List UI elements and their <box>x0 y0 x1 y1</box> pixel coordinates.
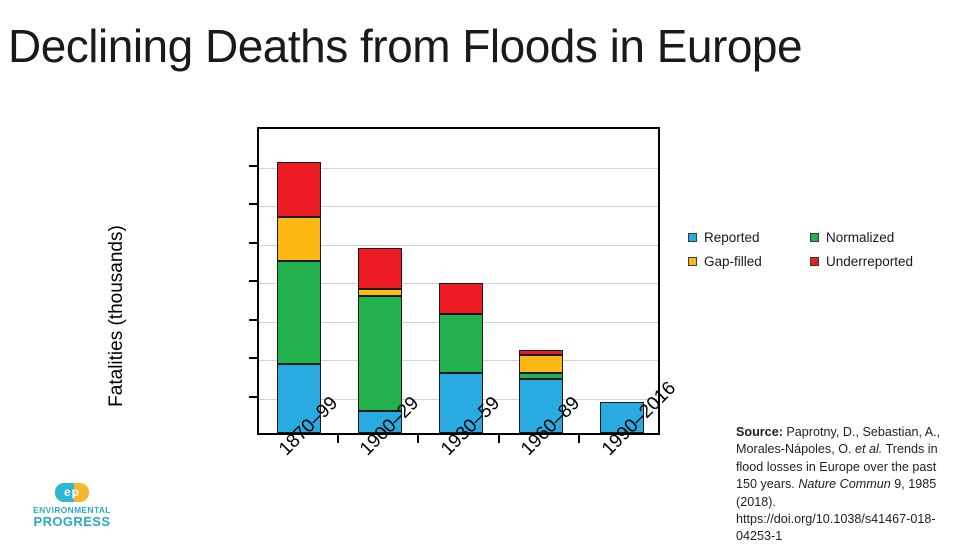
y-tick-mark <box>249 319 257 321</box>
chart-figure: Fatalities (thousands) 03691215182124187… <box>0 100 690 520</box>
bar-segment-normalized[interactable] <box>358 296 402 412</box>
legend-swatch-icon <box>810 257 819 266</box>
y-tick-mark <box>249 203 257 205</box>
x-tick-mark <box>578 435 580 443</box>
legend-swatch-icon <box>688 233 697 242</box>
legend-swatch-icon <box>810 233 819 242</box>
bar-segment-gap-filled[interactable] <box>277 217 321 261</box>
y-tick-mark <box>249 396 257 398</box>
legend-label: Normalized <box>826 230 894 245</box>
logo-line-2: PROGRESS <box>24 515 120 529</box>
legend-item-normalized[interactable]: Normalized <box>810 230 950 245</box>
bar-segment-underreported[interactable] <box>277 162 321 217</box>
legend-item-gap-filled[interactable]: Gap-filled <box>688 254 810 269</box>
x-tick-mark <box>417 435 419 443</box>
bar-segment-gap-filled[interactable] <box>358 289 402 295</box>
bar-segment-underreported[interactable] <box>358 248 402 289</box>
bar-column[interactable] <box>519 125 563 433</box>
bar-column[interactable] <box>439 125 483 433</box>
legend-label: Gap-filled <box>704 254 762 269</box>
bar-column[interactable] <box>277 125 321 433</box>
source-citation: Source: Paprotny, D., Sebastian, A., Mor… <box>736 424 951 546</box>
bar-series-group <box>259 129 658 433</box>
bar-segment-gap-filled[interactable] <box>519 355 563 373</box>
page-title: Declining Deaths from Floods in Europe <box>8 16 952 76</box>
bar-segment-underreported[interactable] <box>519 350 563 355</box>
source-italic-1: et al. <box>855 442 882 456</box>
plot-area <box>257 127 660 435</box>
bar-segment-normalized[interactable] <box>519 373 563 379</box>
legend-item-reported[interactable]: Reported <box>688 230 810 245</box>
bar-segment-normalized[interactable] <box>277 261 321 364</box>
ep-monogram-icon: ep <box>55 483 89 502</box>
bar-segment-normalized[interactable] <box>439 314 483 373</box>
ep-monogram-text: ep <box>55 483 89 502</box>
environmental-progress-logo: ep ENVIRONMENTAL PROGRESS <box>24 483 120 529</box>
y-tick-mark <box>249 242 257 244</box>
source-italic-2: Nature Commun <box>798 477 890 491</box>
legend-swatch-icon <box>688 257 697 266</box>
bar-column[interactable] <box>600 125 644 433</box>
chart-legend: ReportedNormalizedGap-filledUnderreporte… <box>688 225 950 273</box>
legend-label: Underreported <box>826 254 913 269</box>
bar-segment-underreported[interactable] <box>439 283 483 314</box>
legend-item-underreported[interactable]: Underreported <box>810 254 950 269</box>
y-tick-mark <box>249 280 257 282</box>
y-tick-mark <box>249 357 257 359</box>
x-tick-mark <box>498 435 500 443</box>
source-label: Source: <box>736 425 783 439</box>
bar-column[interactable] <box>358 125 402 433</box>
x-tick-mark <box>337 435 339 443</box>
y-tick-mark <box>249 165 257 167</box>
y-axis-title: Fatalities (thousands) <box>106 186 128 446</box>
legend-label: Reported <box>704 230 760 245</box>
